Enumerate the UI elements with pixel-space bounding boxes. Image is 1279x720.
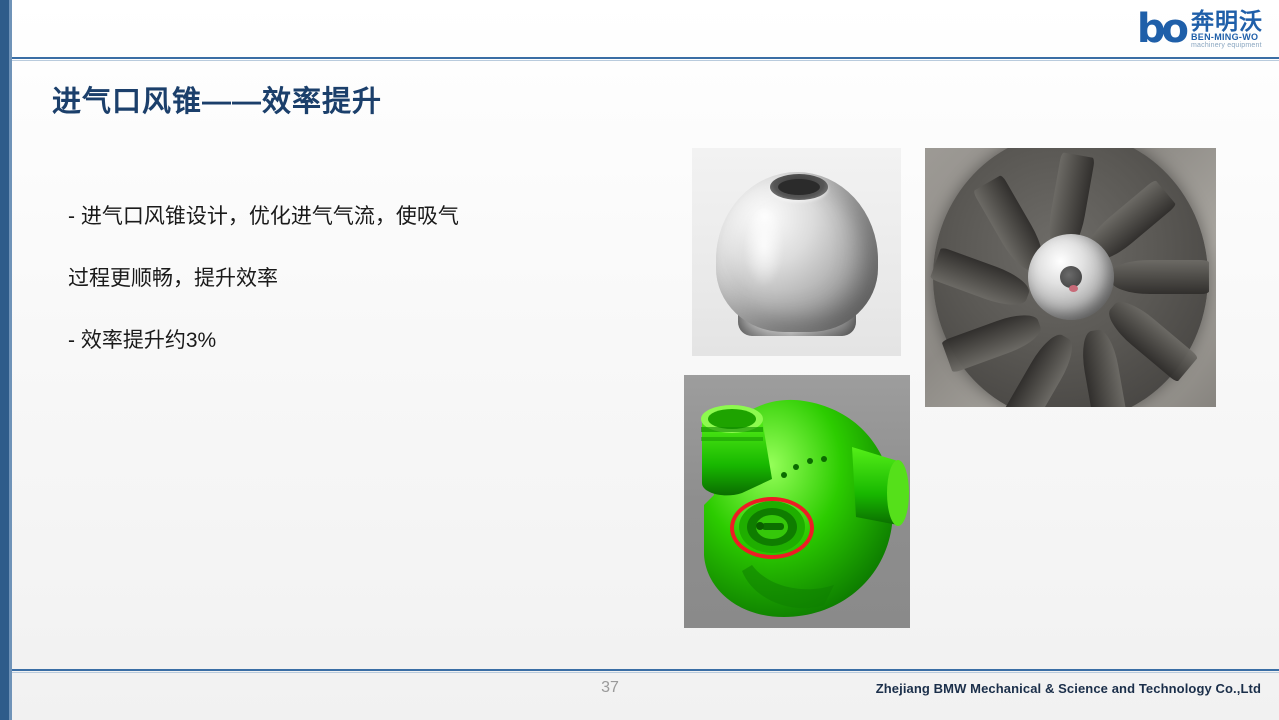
header-divider-secondary (12, 60, 1279, 61)
left-accent-bar (0, 0, 9, 720)
body-line-1: - 进气口风锥设计，优化进气气流，使吸气 (68, 186, 628, 248)
logo-text: 奔明沃 BEN-MING-WO machinery equipment (1191, 9, 1263, 50)
logo-english-name: BEN-MING-WO (1191, 33, 1258, 42)
footer-company-name: Zhejiang BMW Mechanical & Science and Te… (876, 681, 1261, 696)
company-logo: bo 奔明沃 BEN-MING-WO machinery equipment (1063, 5, 1263, 53)
body-text-block: - 进气口风锥设计，优化进气气流，使吸气 过程更顺畅，提升效率 - 效率提升约3… (68, 186, 628, 372)
left-accent-bar-secondary (9, 0, 12, 720)
blower-3d-model-photo (684, 375, 910, 628)
impeller-blade (1077, 327, 1128, 407)
page-title: 进气口风锥——效率提升 (52, 78, 382, 120)
impeller-photo (925, 148, 1216, 407)
logo-chinese-name: 奔明沃 (1191, 9, 1263, 33)
page-number: 37 (590, 679, 630, 697)
impeller-blade (941, 308, 1045, 373)
cone-highlight (744, 202, 784, 288)
impeller-hub-mark (1069, 285, 1078, 292)
blower-model-graphic (684, 375, 910, 628)
impeller-disc (933, 148, 1208, 407)
highlight-circle-marker (730, 497, 814, 559)
header-divider (12, 57, 1279, 59)
slide: bo 奔明沃 BEN-MING-WO machinery equipment 进… (0, 0, 1279, 720)
body-line-3: - 效率提升约3% (68, 310, 628, 372)
impeller-blade (1111, 260, 1209, 294)
logo-tagline: machinery equipment (1191, 42, 1262, 49)
body-line-2: 过程更顺畅，提升效率 (68, 248, 628, 310)
footer-divider (12, 669, 1279, 671)
intake-cone-photo (692, 148, 901, 356)
logo-mark: bo (1137, 9, 1185, 49)
footer-divider-secondary (12, 672, 1279, 673)
cone-bore-inner (778, 179, 820, 195)
